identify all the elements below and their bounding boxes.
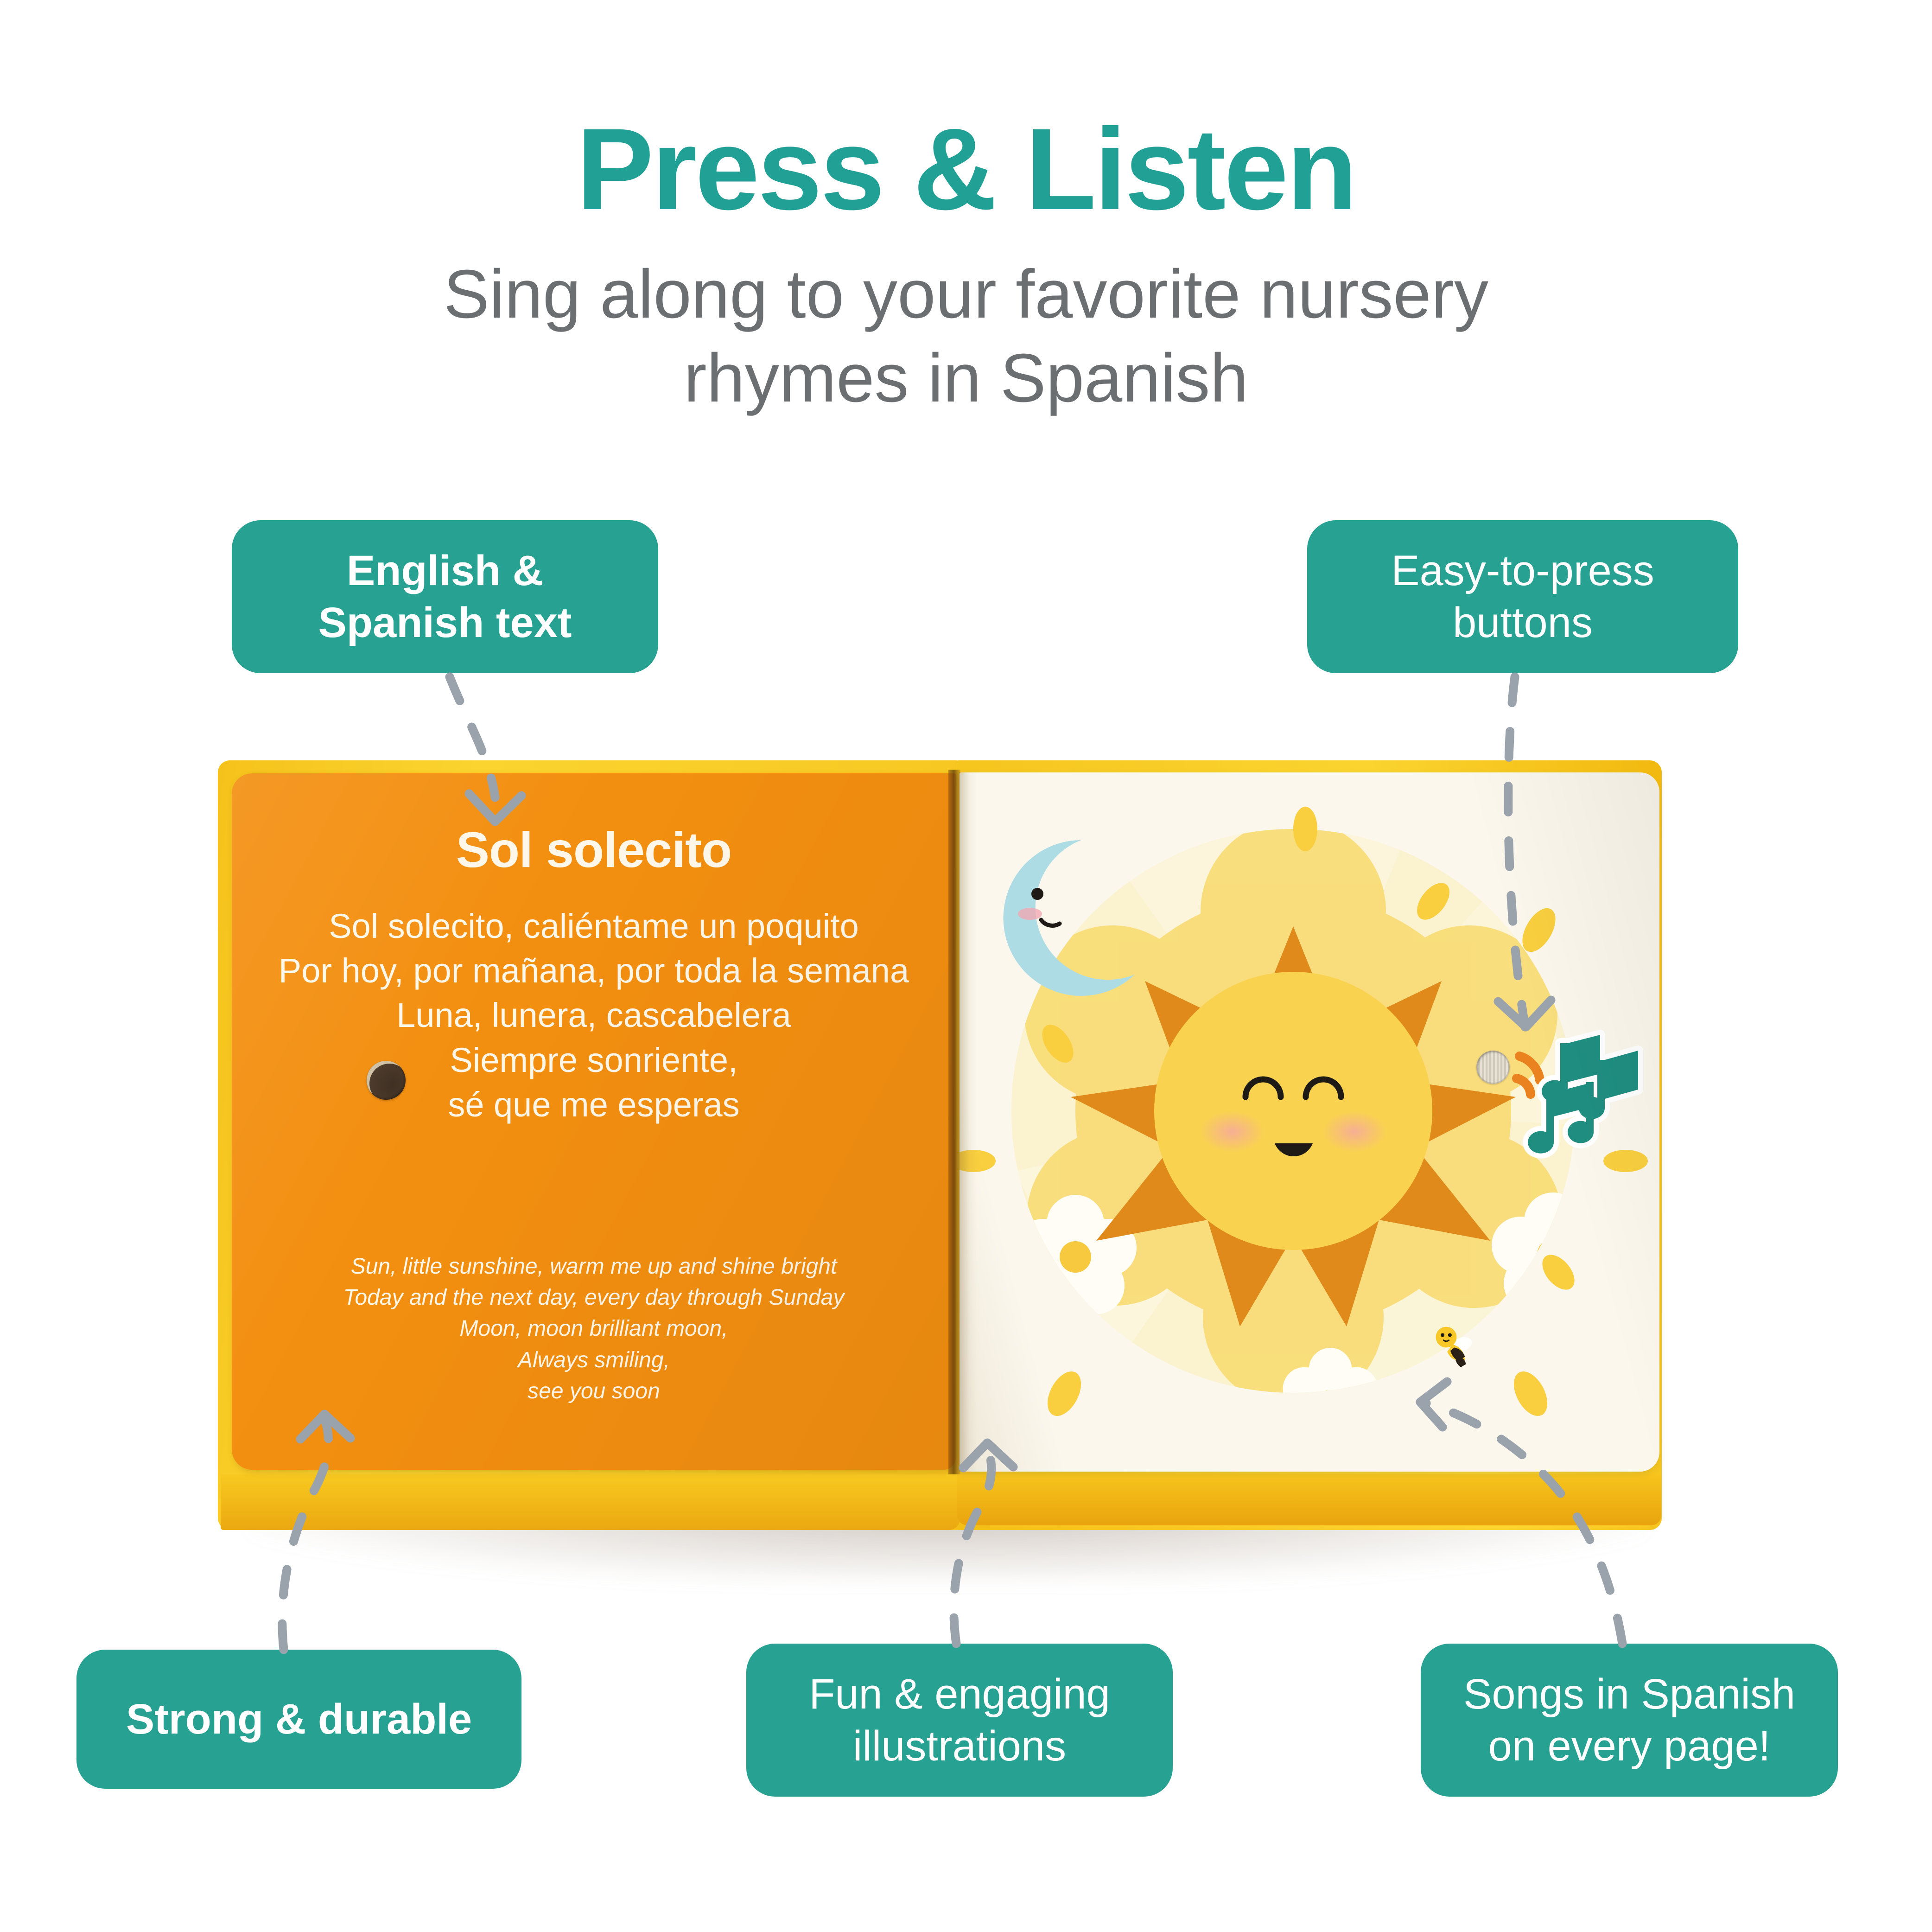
badge-strong-durable[interactable]: Strong & durable bbox=[76, 1650, 521, 1789]
badge-english-spanish-text[interactable]: English & Spanish text bbox=[232, 520, 658, 673]
badge-label: English & Spanish text bbox=[318, 545, 572, 649]
sound-button-hole-icon[interactable] bbox=[367, 1061, 406, 1100]
book-bottom-edge-right bbox=[957, 1474, 1661, 1525]
book-page-left: Sol solecito Sol solecito, caliéntame un… bbox=[232, 773, 956, 1470]
book-bottom-edge-left bbox=[221, 1474, 960, 1530]
board-book: Sol solecito Sol solecito, caliéntame un… bbox=[218, 760, 1662, 1544]
book-gutter-shadow bbox=[959, 772, 977, 1472]
badge-label: Fun & engaging illustrations bbox=[809, 1668, 1110, 1772]
badge-easy-to-press-buttons[interactable]: Easy-to-press buttons bbox=[1307, 520, 1738, 673]
badge-label: Songs in Spanish on every page! bbox=[1463, 1668, 1795, 1772]
lyrics-english-translation: Sun, little sunshine, warm me up and shi… bbox=[232, 1251, 956, 1407]
badge-fun-engaging-illustrations[interactable]: Fun & engaging illustrations bbox=[746, 1644, 1173, 1797]
sun-illustration bbox=[960, 772, 1659, 1472]
sun-cheek-right bbox=[1322, 1111, 1387, 1153]
moon-smile bbox=[1041, 920, 1060, 925]
badge-label: Easy-to-press buttons bbox=[1391, 545, 1654, 649]
page-title: Press & Listen bbox=[0, 111, 1932, 227]
song-title: Sol solecito bbox=[232, 821, 956, 879]
lyrics-spanish: Sol solecito, caliéntame un poquito Por … bbox=[232, 904, 956, 1127]
promo-image: Press & Listen Sing along to your favori… bbox=[0, 0, 1932, 1932]
badge-songs-in-spanish[interactable]: Songs in Spanish on every page! bbox=[1421, 1644, 1838, 1797]
sun-cheek-left bbox=[1200, 1111, 1265, 1153]
book-page-right bbox=[960, 772, 1659, 1472]
moon-cheek bbox=[1018, 908, 1042, 920]
speaker-grille-icon[interactable] bbox=[1476, 1051, 1510, 1084]
page-subtitle: Sing along to your favorite nursery rhym… bbox=[387, 253, 1545, 420]
moon-eye bbox=[1031, 888, 1043, 900]
badge-label: Strong & durable bbox=[126, 1693, 472, 1745]
sun-face bbox=[1154, 972, 1432, 1250]
